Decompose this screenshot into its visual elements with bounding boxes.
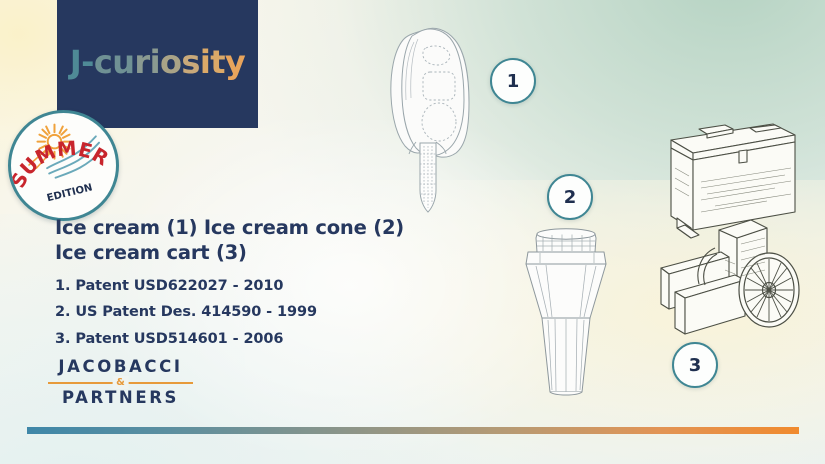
- ice-cream-cone-svg: [510, 222, 622, 398]
- headline-line-2: Ice cream cart (3): [55, 241, 475, 266]
- logo-letter-i1: i: [150, 43, 160, 81]
- logo-letter-y: y: [225, 43, 245, 81]
- logo-letter-c: c: [94, 43, 112, 81]
- ice-cream-cone-drawing: [510, 222, 622, 398]
- brand-header-block: J-curiosity: [57, 0, 258, 128]
- callout-badge-1: 1: [490, 58, 536, 104]
- ice-cream-cart-drawing: [655, 108, 810, 366]
- callout-badge-3: 3: [672, 342, 718, 388]
- page-title: Ice cream (1) Ice cream cone (2) Ice cre…: [55, 216, 475, 266]
- summer-badge-graphic: SUMMER EDITION: [11, 113, 116, 218]
- ice-cream-bar-drawing: [372, 18, 490, 218]
- summer-edition-badge: SUMMER EDITION: [8, 110, 119, 221]
- slide-canvas: J-curiosity: [0, 0, 825, 464]
- logo-letter-r: r: [134, 43, 149, 81]
- brand-logo-text: J-curiosity: [57, 46, 258, 78]
- logo-letter-t: t: [210, 43, 225, 81]
- patent-list: 1. Patent USD622027 - 2010 2. US Patent …: [55, 273, 475, 352]
- patent-item-1: 1. Patent USD622027 - 2010: [55, 273, 475, 299]
- logo-letter-dash: -: [81, 43, 94, 81]
- logo-letter-s: s: [181, 43, 199, 81]
- jacobacci-wordmark-top: JACOBACCI: [48, 358, 193, 376]
- jacobacci-partners-logo: JACOBACCI & PARTNERS: [48, 358, 193, 408]
- patent-item-2: 2. US Patent Des. 414590 - 1999: [55, 299, 475, 325]
- callout-badge-2: 2: [547, 174, 593, 220]
- summer-badge-subtitle: EDITION: [46, 182, 94, 204]
- jacobacci-ampersand: &: [112, 376, 129, 389]
- logo-letter-u: u: [112, 43, 134, 81]
- jacobacci-divider: &: [48, 377, 193, 389]
- logo-letter-o: o: [160, 43, 181, 81]
- ice-cream-cart-svg: [655, 108, 810, 366]
- logo-letter-i2: i: [200, 43, 210, 81]
- footer-gradient-bar: [27, 427, 799, 434]
- patent-item-3: 3. Patent USD514601 - 2006: [55, 326, 475, 352]
- logo-letter-j: J: [70, 43, 81, 81]
- ice-cream-bar-svg: [372, 18, 490, 218]
- headline-line-1: Ice cream (1) Ice cream cone (2): [55, 216, 475, 241]
- jacobacci-wordmark-bottom: PARTNERS: [48, 389, 193, 408]
